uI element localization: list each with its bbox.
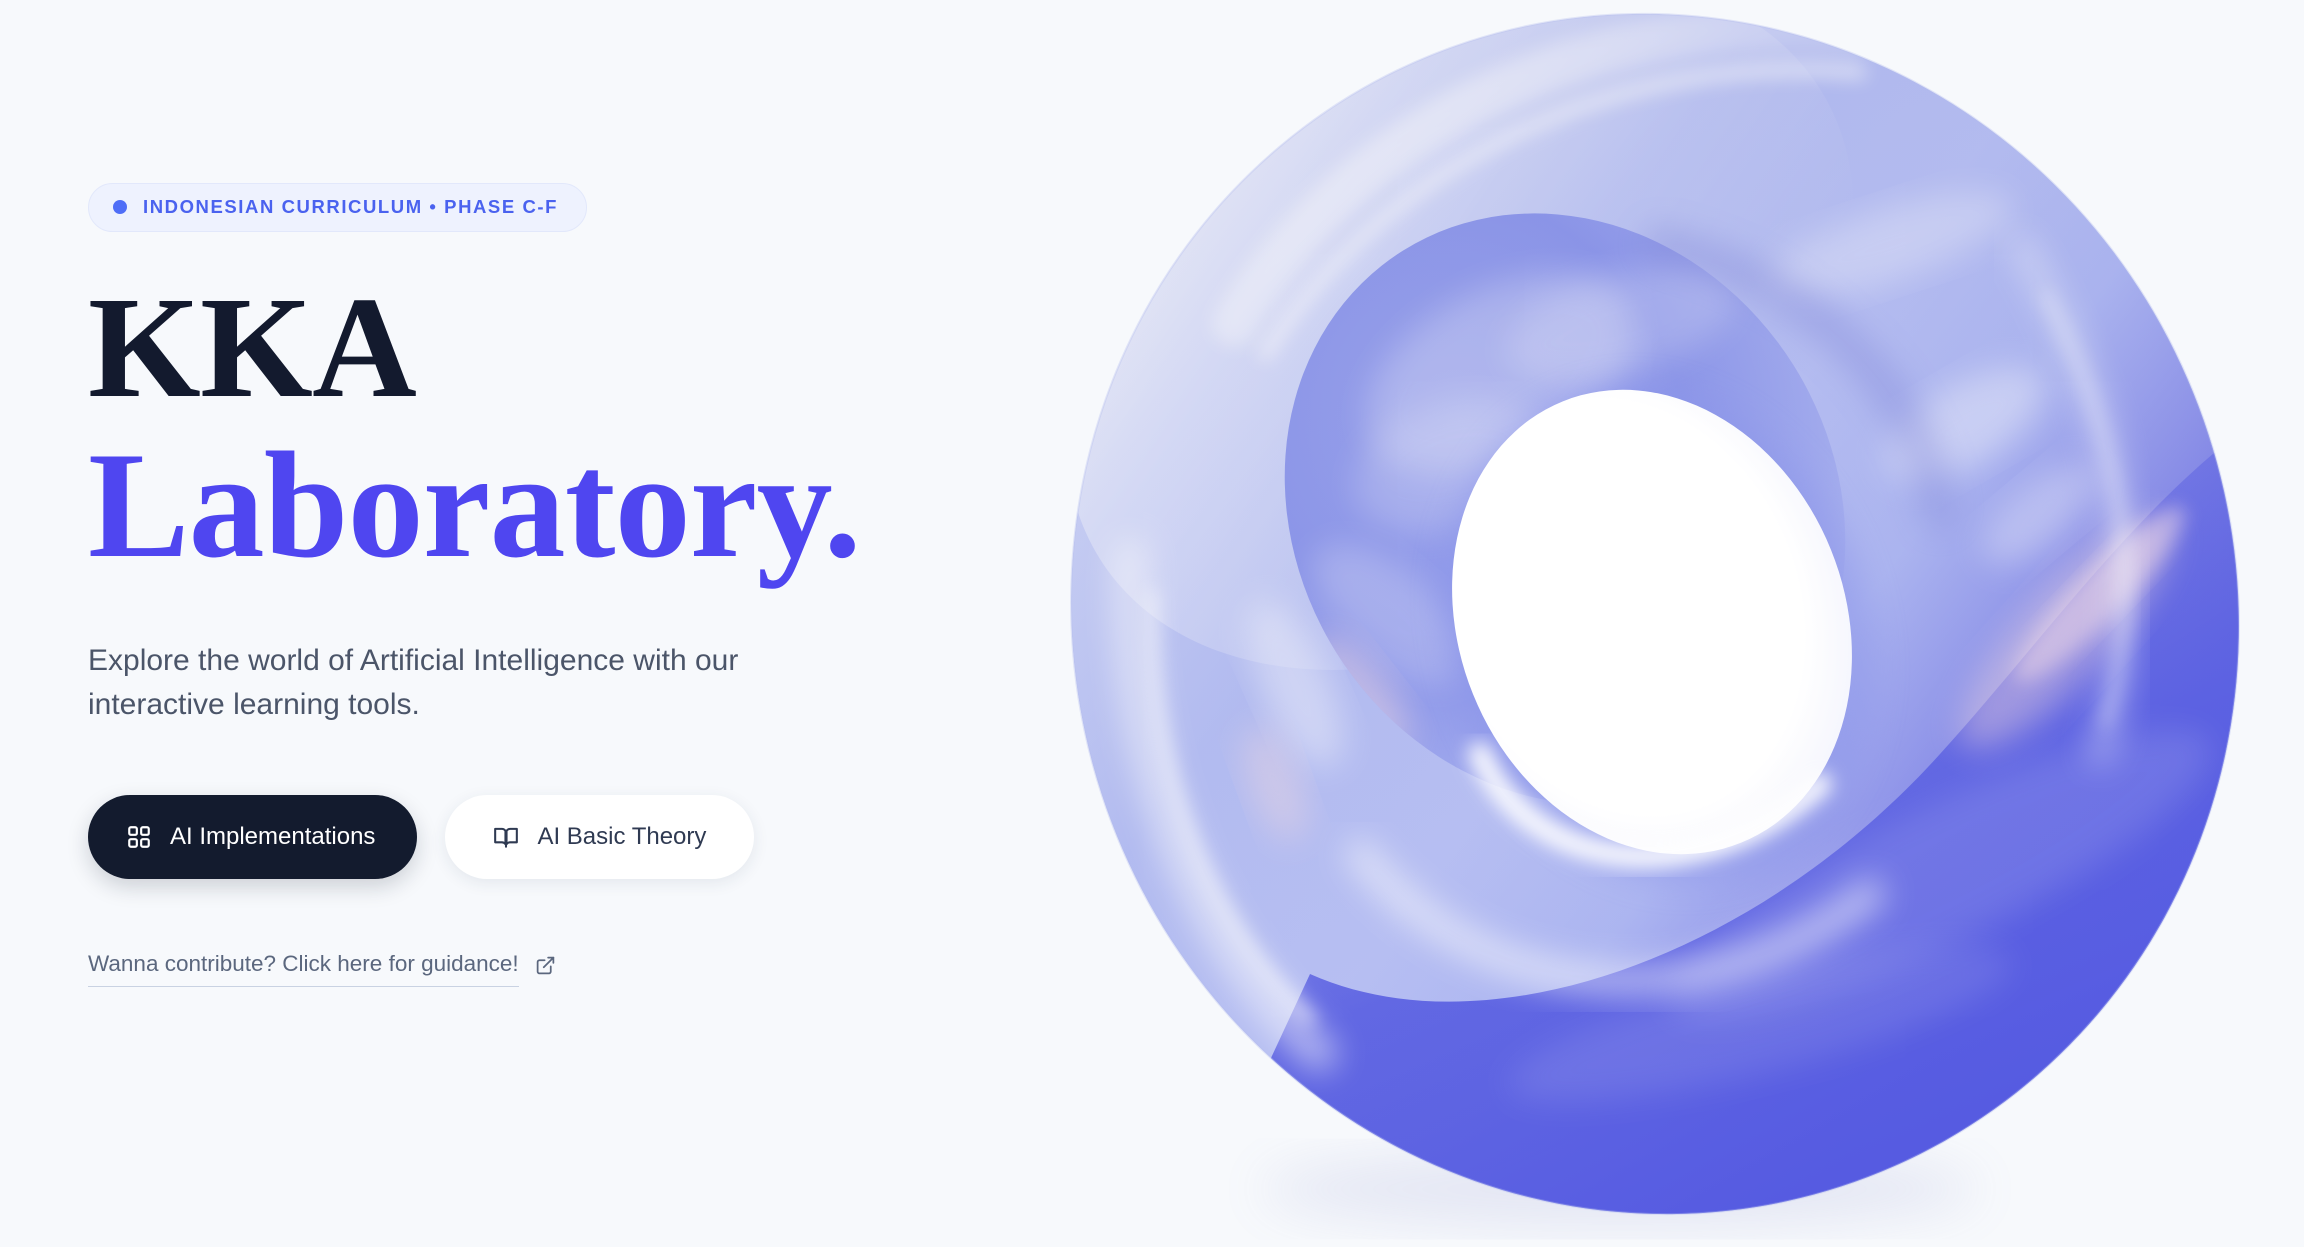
contribute-link-label: Wanna contribute? Click here for guidanc… [88, 953, 519, 987]
curriculum-badge-label: INDONESIAN CURRICULUM • PHASE C-F [143, 198, 558, 217]
page-title: KKA Laboratory. [88, 280, 988, 577]
ai-implementations-button[interactable]: AI Implementations [88, 795, 417, 879]
cta-button-group: AI Implementations AI Basic Theory [88, 795, 988, 879]
hero-section: INDONESIAN CURRICULUM • PHASE C-F KKA La… [0, 0, 2304, 1247]
ai-implementations-button-label: AI Implementations [170, 825, 375, 849]
hero-subtitle: Explore the world of Artificial Intellig… [88, 639, 748, 728]
external-link-icon [535, 955, 556, 981]
page-title-line-1: KKA [88, 280, 988, 416]
contribute-link[interactable]: Wanna contribute? Click here for guidanc… [88, 953, 556, 987]
glossy-torus-3d-icon [1060, 0, 2250, 1247]
curriculum-badge[interactable]: INDONESIAN CURRICULUM • PHASE C-F [88, 183, 587, 232]
book-open-icon [493, 824, 519, 850]
grid-icon [126, 824, 152, 850]
page-title-line-2: Laboratory. [88, 434, 988, 577]
ai-basic-theory-button-label: AI Basic Theory [537, 825, 706, 849]
status-dot-icon [113, 200, 127, 214]
ai-basic-theory-button[interactable]: AI Basic Theory [445, 795, 754, 879]
hero-content: INDONESIAN CURRICULUM • PHASE C-F KKA La… [88, 183, 988, 987]
hero-artwork [1060, 0, 2250, 1247]
